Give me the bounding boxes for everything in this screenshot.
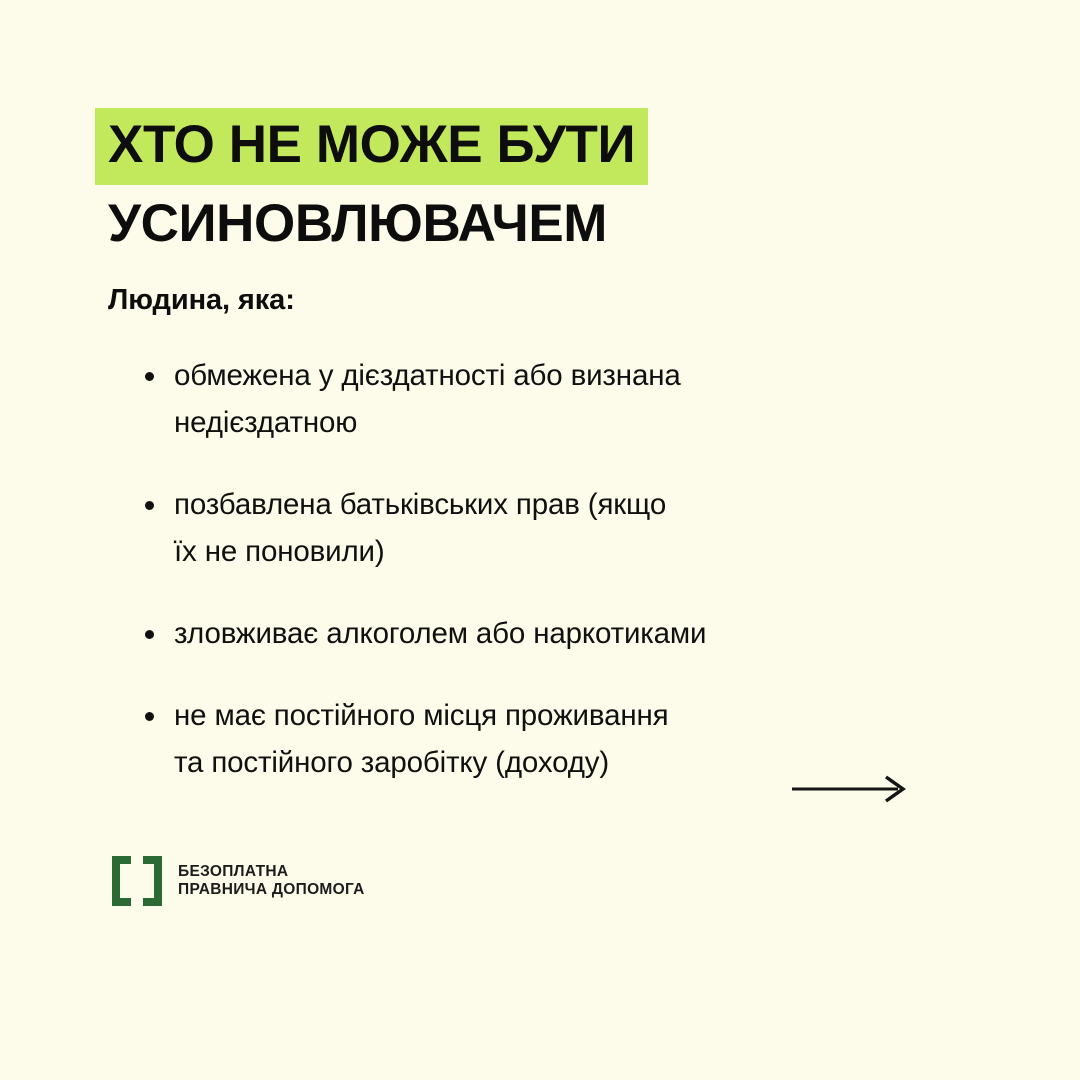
- bullet-dot-icon: [145, 501, 154, 510]
- title-line-2: УСИНОВЛЮВАЧЕМ: [95, 191, 975, 257]
- bullet-dot-icon: [145, 712, 154, 721]
- brand-logo-text: БЕЗОПЛАТНА ПРАВНИЧА ДОПОМОГА: [178, 863, 365, 900]
- bullet-dot-icon: [145, 372, 154, 381]
- list-item: позбавлена батьківських прав (якщо їх не…: [140, 481, 940, 575]
- slide-root: ХТО НЕ МОЖЕ БУТИ УСИНОВЛЮВАЧЕМ Людина, я…: [0, 0, 1080, 1080]
- brand-logo-line-1: БЕЗОПЛАТНА: [178, 863, 365, 881]
- brand-logo-line-2: ПРАВНИЧА ДОПОМОГА: [178, 881, 365, 899]
- title-line-1-wrapper: ХТО НЕ МОЖЕ БУТИ: [95, 108, 975, 185]
- list-item-label: зловживає алкоголем або наркотиками: [174, 610, 940, 657]
- page-title: ХТО НЕ МОЖЕ БУТИ УСИНОВЛЮВАЧЕМ: [95, 108, 975, 257]
- brand-logo: БЕЗОПЛАТНА ПРАВНИЧА ДОПОМОГА: [110, 856, 365, 906]
- list-item: зловживає алкоголем або наркотиками: [140, 610, 940, 657]
- subtitle: Людина, яка:: [108, 284, 295, 317]
- arrow-right-icon: [790, 770, 910, 808]
- list-item: обмежена у дієздатності або визнана неді…: [140, 352, 940, 446]
- list-item-label: позбавлена батьківських прав (якщо їх не…: [174, 481, 940, 575]
- bullet-dot-icon: [145, 630, 154, 639]
- next-slide-button[interactable]: [790, 770, 910, 808]
- brackets-logo-icon: [110, 856, 164, 906]
- criteria-list: обмежена у дієздатності або визнана неді…: [140, 352, 940, 786]
- list-item-label: обмежена у дієздатності або визнана неді…: [174, 352, 940, 446]
- title-line-1: ХТО НЕ МОЖЕ БУТИ: [95, 108, 648, 185]
